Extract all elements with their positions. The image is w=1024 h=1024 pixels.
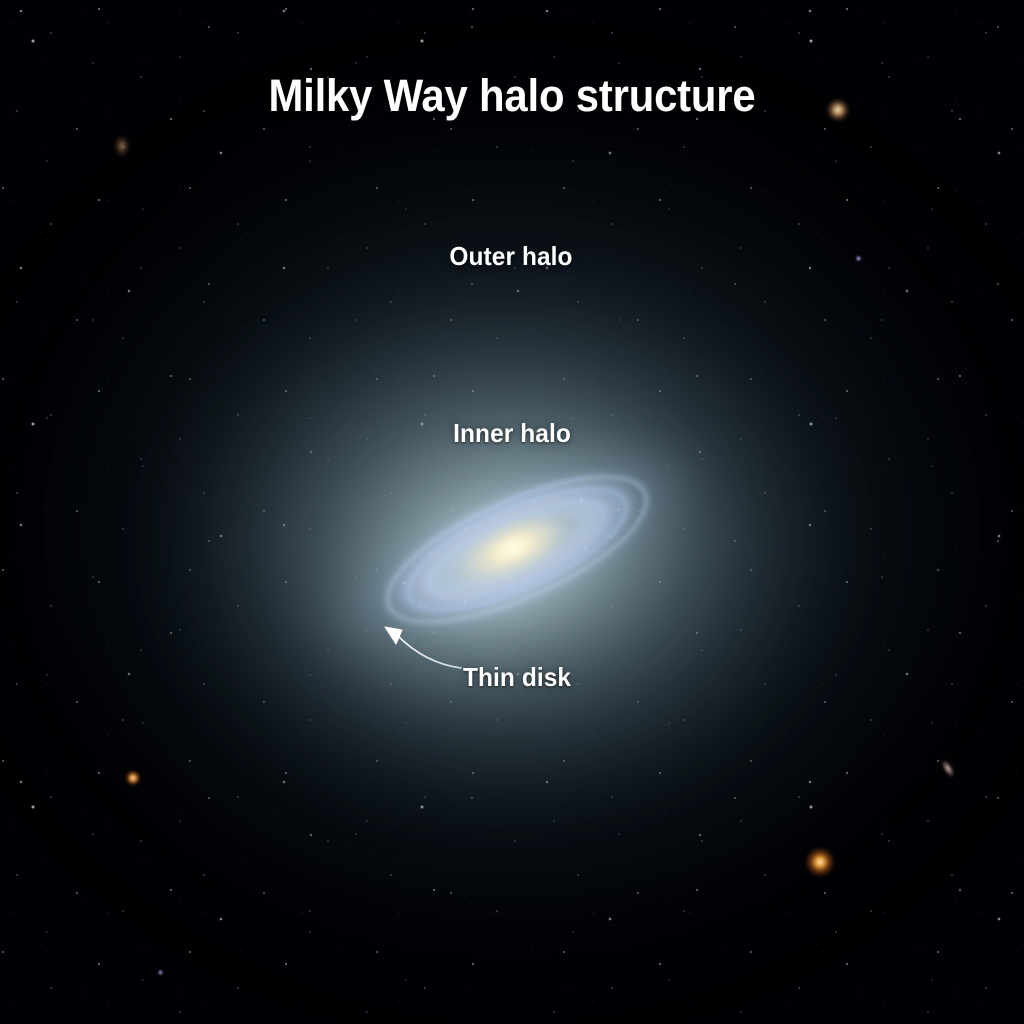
- label-outer-halo: Outer halo: [449, 241, 572, 272]
- thin-disk-leader-line: [0, 0, 1024, 1024]
- label-inner-halo: Inner halo: [453, 418, 571, 449]
- figure-canvas: Milky Way halo structure Outer halo Inne…: [0, 0, 1024, 1024]
- label-thin-disk: Thin disk: [463, 662, 571, 693]
- page-title: Milky Way halo structure: [36, 70, 988, 122]
